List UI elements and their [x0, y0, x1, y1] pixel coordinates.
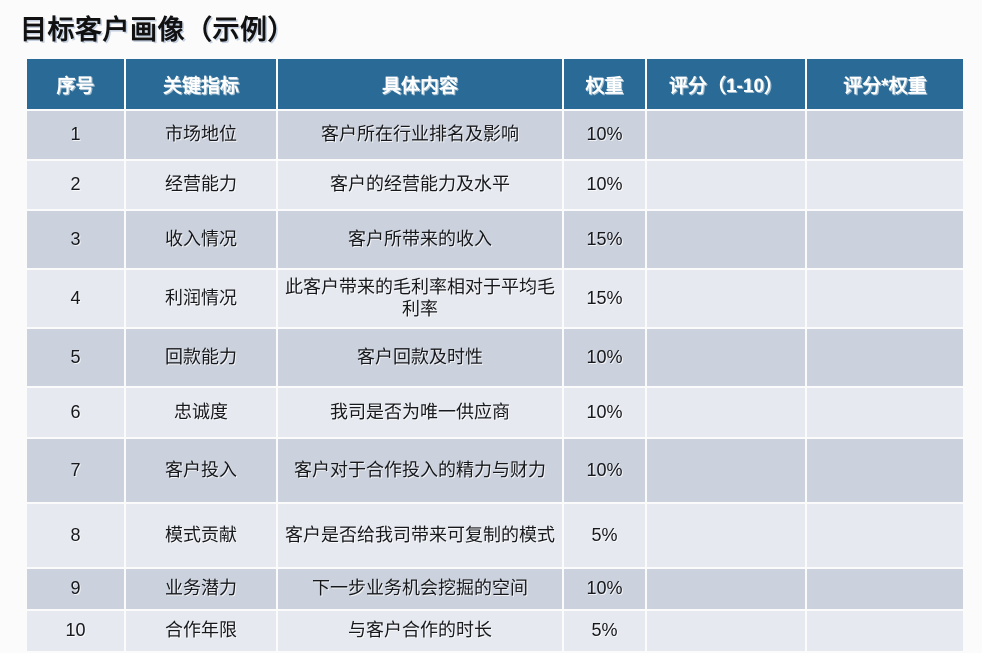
cell-detail: 我司是否为唯一供应商 — [278, 388, 562, 437]
cell-no: 1 — [27, 111, 124, 159]
cell-weight: 10% — [564, 439, 645, 502]
table-row: 1 市场地位 客户所在行业排名及影响 10% — [27, 111, 963, 159]
cell-metric: 客户投入 — [126, 439, 276, 502]
cell-score[interactable] — [647, 161, 805, 209]
cell-weight: 10% — [564, 329, 645, 386]
cell-score-weight[interactable] — [807, 270, 963, 327]
cell-detail: 客户回款及时性 — [278, 329, 562, 386]
cell-metric: 模式贡献 — [126, 504, 276, 567]
table-header-row: 序号 关键指标 具体内容 权重 评分（1-10） 评分*权重 — [27, 59, 963, 109]
cell-metric: 合作年限 — [126, 611, 276, 651]
cell-weight: 10% — [564, 111, 645, 159]
cell-no: 8 — [27, 504, 124, 567]
cell-score-weight[interactable] — [807, 388, 963, 437]
table-header: 序号 关键指标 具体内容 权重 评分（1-10） 评分*权重 — [27, 59, 963, 109]
cell-no: 6 — [27, 388, 124, 437]
slide-page: 目标客户画像（示例） 序号 关键指标 具体内容 权重 评分（1-10） 评分*权… — [0, 0, 982, 619]
cell-metric: 市场地位 — [126, 111, 276, 159]
cell-metric: 经营能力 — [126, 161, 276, 209]
cell-no: 4 — [27, 270, 124, 327]
cell-score[interactable] — [647, 388, 805, 437]
table-row: 9 业务潜力 下一步业务机会挖掘的空间 10% — [27, 569, 963, 609]
cell-metric: 忠诚度 — [126, 388, 276, 437]
table-row: 6 忠诚度 我司是否为唯一供应商 10% — [27, 388, 963, 437]
cell-weight: 5% — [564, 611, 645, 651]
customer-profile-table-wrapper: 序号 关键指标 具体内容 权重 评分（1-10） 评分*权重 1 市场地位 客户… — [25, 57, 951, 653]
cell-no: 10 — [27, 611, 124, 651]
cell-score[interactable] — [647, 611, 805, 651]
table-body: 1 市场地位 客户所在行业排名及影响 10% 2 经营能力 客户的经营能力及水平… — [27, 111, 963, 651]
cell-metric: 回款能力 — [126, 329, 276, 386]
cell-no: 9 — [27, 569, 124, 609]
cell-score[interactable] — [647, 504, 805, 567]
cell-no: 3 — [27, 211, 124, 268]
cell-score-weight[interactable] — [807, 439, 963, 502]
cell-detail: 客户对于合作投入的精力与财力 — [278, 439, 562, 502]
cell-score-weight[interactable] — [807, 329, 963, 386]
cell-detail: 与客户合作的时长 — [278, 611, 562, 651]
cell-score-weight[interactable] — [807, 611, 963, 651]
cell-score-weight[interactable] — [807, 111, 963, 159]
cell-metric: 利润情况 — [126, 270, 276, 327]
cell-weight: 10% — [564, 161, 645, 209]
cell-no: 5 — [27, 329, 124, 386]
cell-weight: 15% — [564, 270, 645, 327]
cell-score-weight[interactable] — [807, 569, 963, 609]
cell-metric: 收入情况 — [126, 211, 276, 268]
cell-score[interactable] — [647, 211, 805, 268]
table-row: 3 收入情况 客户所带来的收入 15% — [27, 211, 963, 268]
page-title: 目标客户画像（示例） — [20, 8, 295, 47]
column-header-sw[interactable]: 评分*权重 — [807, 59, 963, 109]
cell-weight: 15% — [564, 211, 645, 268]
cell-detail: 客户所带来的收入 — [278, 211, 562, 268]
table-row: 10 合作年限 与客户合作的时长 5% — [27, 611, 963, 651]
table-row: 5 回款能力 客户回款及时性 10% — [27, 329, 963, 386]
cell-score-weight[interactable] — [807, 161, 963, 209]
cell-weight: 10% — [564, 569, 645, 609]
cell-score[interactable] — [647, 569, 805, 609]
column-header-no[interactable]: 序号 — [27, 59, 124, 109]
cell-detail: 客户的经营能力及水平 — [278, 161, 562, 209]
column-header-detail[interactable]: 具体内容 — [278, 59, 562, 109]
cell-detail: 客户所在行业排名及影响 — [278, 111, 562, 159]
cell-score[interactable] — [647, 111, 805, 159]
cell-metric: 业务潜力 — [126, 569, 276, 609]
cell-no: 2 — [27, 161, 124, 209]
cell-weight: 10% — [564, 388, 645, 437]
cell-score[interactable] — [647, 270, 805, 327]
column-header-metric[interactable]: 关键指标 — [126, 59, 276, 109]
cell-no: 7 — [27, 439, 124, 502]
cell-detail: 客户是否给我司带来可复制的模式 — [278, 504, 562, 567]
table-row: 4 利润情况 此客户带来的毛利率相对于平均毛利率 15% — [27, 270, 963, 327]
table-row: 2 经营能力 客户的经营能力及水平 10% — [27, 161, 963, 209]
cell-detail: 下一步业务机会挖掘的空间 — [278, 569, 562, 609]
cell-score[interactable] — [647, 439, 805, 502]
cell-score-weight[interactable] — [807, 504, 963, 567]
cell-detail: 此客户带来的毛利率相对于平均毛利率 — [278, 270, 562, 327]
column-header-score[interactable]: 评分（1-10） — [647, 59, 805, 109]
customer-profile-table: 序号 关键指标 具体内容 权重 评分（1-10） 评分*权重 1 市场地位 客户… — [25, 57, 965, 653]
cell-score[interactable] — [647, 329, 805, 386]
cell-score-weight[interactable] — [807, 211, 963, 268]
cell-weight: 5% — [564, 504, 645, 567]
column-header-weight[interactable]: 权重 — [564, 59, 645, 109]
table-row: 8 模式贡献 客户是否给我司带来可复制的模式 5% — [27, 504, 963, 567]
table-row: 7 客户投入 客户对于合作投入的精力与财力 10% — [27, 439, 963, 502]
